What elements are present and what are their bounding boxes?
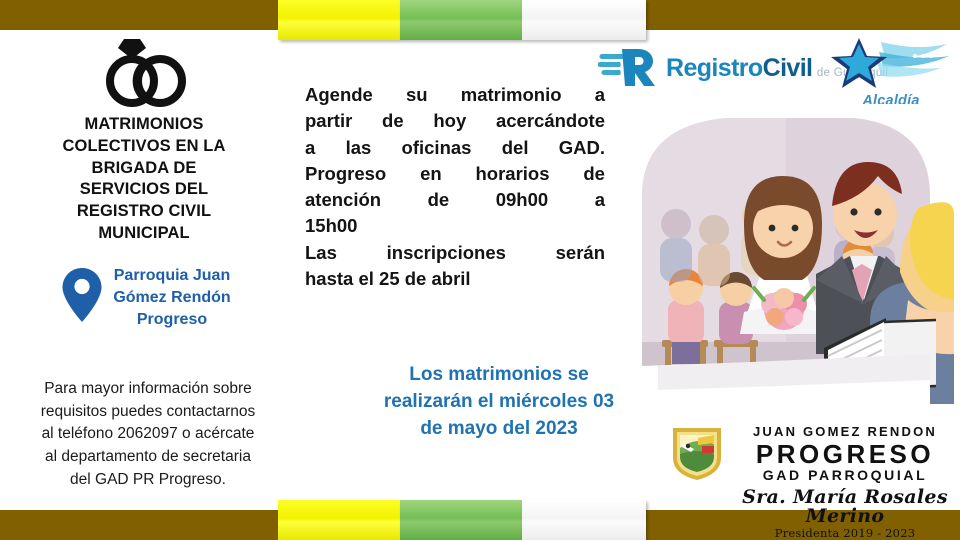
callout-line: Los matrimonios se [409,364,589,385]
slide-canvas: MATRIMONIOS COLECTIVOS EN LA BRIGADA DE … [0,0,960,540]
body-line: hasta el 25 de abril [305,266,605,292]
body-line: Agende su matrimonio a [305,82,605,108]
location-line: Progreso [137,311,207,328]
event-date-callout: Los matrimonios se realizarán el miércol… [360,362,638,443]
body-line: 15h00 [305,213,605,239]
progreso-coat-of-arms-icon [668,424,726,487]
contact-line: al teléfono 2062097 o acércate [42,425,255,442]
map-pin-icon [61,266,103,329]
body-word: las [346,135,372,161]
body-word: su [406,82,428,108]
body-line: atención de 09h00 a [305,187,605,213]
body-line: a las oficinas del GAD. [305,135,605,161]
contact-line: Para mayor información sobre [44,380,252,397]
body-word: de [583,161,605,187]
top-chip-white [522,0,646,40]
left-column: MATRIMONIOS COLECTIVOS EN LA BRIGADA DE … [0,34,288,331]
location-text: Parroquia Juan Gómez Rendón Progreso [113,265,230,331]
body-word: en [420,161,442,187]
seal-role: Presidenta 2019 - 2023 [736,528,954,540]
contact-line: al departamento de secretaria [45,448,251,465]
top-chip-green [400,0,522,40]
seal-line-3: GAD PARROQUIAL [736,468,954,482]
body-word: 09h00 [496,187,548,213]
top-chip-yellow [278,0,400,40]
location-line: Gómez Rendón [113,289,230,306]
body-word: GAD. [559,135,605,161]
location-line: Parroquia Juan [114,267,230,284]
wedding-ceremony-illustration [618,104,954,404]
civil-word: Civil [763,54,813,82]
registro-civil-r-icon [598,44,660,93]
body-line: Progreso en horarios de [305,161,605,187]
body-word: Agende [305,82,373,108]
registro-word: Registro [666,54,763,82]
callout-line: realizarán el miércoles 03 [384,391,614,412]
bottom-chip-yellow [278,500,400,540]
body-word: horarios [476,161,550,187]
announcement-body: Agende su matrimonio a partir de hoy ace… [305,82,605,292]
body-line: partir de hoy acercándote [305,108,605,134]
body-line: Las inscripciones serán [305,240,605,266]
title-line: COLECTIVOS EN LA [63,137,226,155]
body-word: matrimonio [461,82,562,108]
body-word: de [428,187,450,213]
title-line: MATRIMONIOS [84,115,203,133]
page-title: MATRIMONIOS COLECTIVOS EN LA BRIGADA DE … [0,114,288,245]
seal-signature: Sra. María Rosales Merino [736,488,954,526]
body-word: oficinas [402,135,472,161]
contact-info-text: Para mayor información sobre requisitos … [4,378,292,491]
gad-parroquial-seal: JUAN GOMEZ RENDON PROGRESO GAD PARROQUIA… [668,424,954,540]
title-line: BRIGADA DE [92,159,197,177]
body-word: inscripciones [387,240,506,266]
seal-text-block: JUAN GOMEZ RENDON PROGRESO GAD PARROQUIA… [736,424,954,540]
wedding-rings-icon [0,34,288,108]
body-word: Las [305,240,337,266]
body-word: serán [556,240,605,266]
body-word: atención [305,187,381,213]
body-word: a [305,135,315,161]
body-word: del [502,135,529,161]
contact-line: del GAD PR Progreso. [70,471,226,488]
body-word: de [382,108,404,134]
body-word: acercándote [496,108,605,134]
callout-line: de mayo del 2023 [420,418,577,439]
title-line: SERVICIOS DEL [80,180,208,198]
seal-line-1: JUAN GOMEZ RENDON [753,424,937,439]
body-word: partir [305,108,352,134]
location-block: Parroquia Juan Gómez Rendón Progreso [0,265,288,331]
title-line: REGISTRO CIVIL [77,202,211,220]
bottom-chip-green [400,500,522,540]
seal-line-2: PROGRESO [736,441,954,467]
title-line: MUNICIPAL [98,224,189,242]
body-word: Progreso [305,161,386,187]
contact-line: requisitos puedes contactarnos [41,403,256,420]
bottom-chip-white [522,500,646,540]
body-word: a [595,187,605,213]
body-word: hoy [433,108,466,134]
registro-civil-title: RegistroCivil [666,54,812,82]
